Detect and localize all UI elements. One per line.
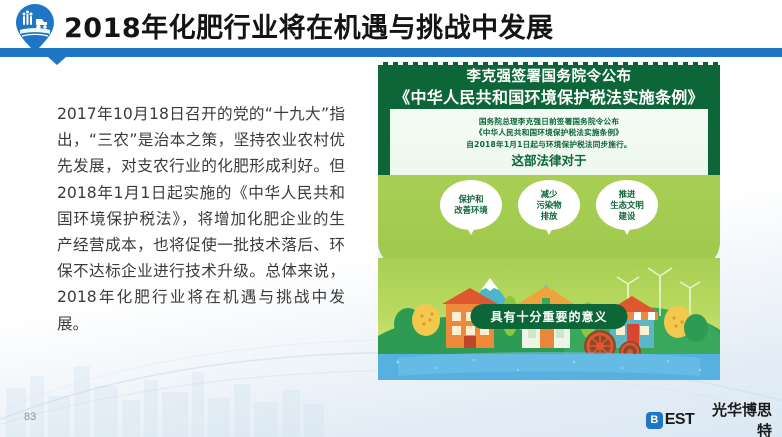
infographic-subtext: 国务院总理李克强日前签署国务院令公布 《中华人民共和国环境保护税法实施条例》 自… [390, 116, 708, 169]
balloon-line1: 减少 [541, 189, 558, 200]
brand-latin-text: EST [665, 411, 695, 429]
infographic-subtext-panel: 国务院总理李克强日前签署国务院令公布 《中华人民共和国环境保护税法实施条例》 自… [378, 109, 720, 175]
balloon-tail [543, 224, 555, 235]
infographic-card: 李克强签署国务院令公布 《中华人民共和国环境保护税法实施条例》 国务院总理李克强… [378, 62, 720, 380]
balloon-line3: 排放 [541, 211, 558, 222]
balloon-bubble: 推进 生态文明 建设 [596, 180, 658, 230]
balloon-tail [465, 224, 477, 235]
brand-mark-icon: B [646, 412, 663, 429]
balloon-item: 推进 生态文明 建设 [596, 180, 658, 236]
balloon-line2: 污染物 [536, 200, 561, 211]
subtext-line1: 国务院总理李克强日前签署国务院令公布 [390, 116, 708, 127]
balloon-line3: 建设 [619, 211, 636, 222]
balloon-bubble: 保护和 改善环境 [440, 180, 502, 230]
panel-edge-right [708, 109, 720, 175]
city-skyline-watermark [0, 342, 330, 437]
slide-header: 2018年化肥行业将在机遇与挑战中发展 [0, 0, 782, 56]
balloon-bubble: 减少 污染物 排放 [518, 180, 580, 230]
brand-logo-main: B EST 光华博思特 [646, 399, 772, 437]
title-underline-bar [0, 48, 782, 57]
infographic-head-line2: 《中华人民共和国环境保护税法实施条例》 [378, 87, 720, 108]
brand-logo: B EST 光华博思特 消费大数据中心 [646, 399, 772, 433]
body-paragraph: 2017年10月18日召开的党的“十九大”指出，“三农”是治本之策，坚持农业农村… [57, 101, 345, 337]
benefit-balloons: 保护和 改善环境 减少 污染物 排放 推进 生态文明 建设 [378, 180, 720, 246]
subtext-line2: 《中华人民共和国环境保护税法实施条例》 [390, 127, 708, 138]
balloon-line1: 保护和 [458, 194, 483, 205]
infographic-header: 李克强签署国务院令公布 《中华人民共和国环境保护税法实施条例》 [378, 65, 720, 109]
balloon-tail [621, 224, 633, 235]
subtext-line3: 自2018年1月1日起与环境保护税法同步施行。 [390, 139, 708, 150]
panel-edge-left [378, 109, 390, 175]
significance-pill: 具有十分重要的意义 [470, 304, 627, 329]
slide-canvas: 2018年化肥行业将在机遇与挑战中发展 2017年10月18日召开的党的“十九大… [0, 0, 782, 437]
balloon-line2: 生态文明 [610, 200, 644, 211]
page-number: 83 [24, 411, 36, 423]
infographic-head-line1: 李克强签署国务院令公布 [378, 68, 720, 87]
balloon-line2: 改善环境 [454, 205, 488, 216]
brand-chinese-text: 光华博思特 [698, 399, 772, 437]
balloon-line1: 推进 [619, 189, 636, 200]
agriculture-pin-logo [12, 3, 58, 53]
balloon-item: 减少 污染物 排放 [518, 180, 580, 236]
page-title: 2018年化肥行业将在机遇与挑战中发展 [64, 6, 554, 45]
subtext-highlight: 这部法律对于 [390, 152, 708, 169]
balloon-item: 保护和 改善环境 [440, 180, 502, 236]
